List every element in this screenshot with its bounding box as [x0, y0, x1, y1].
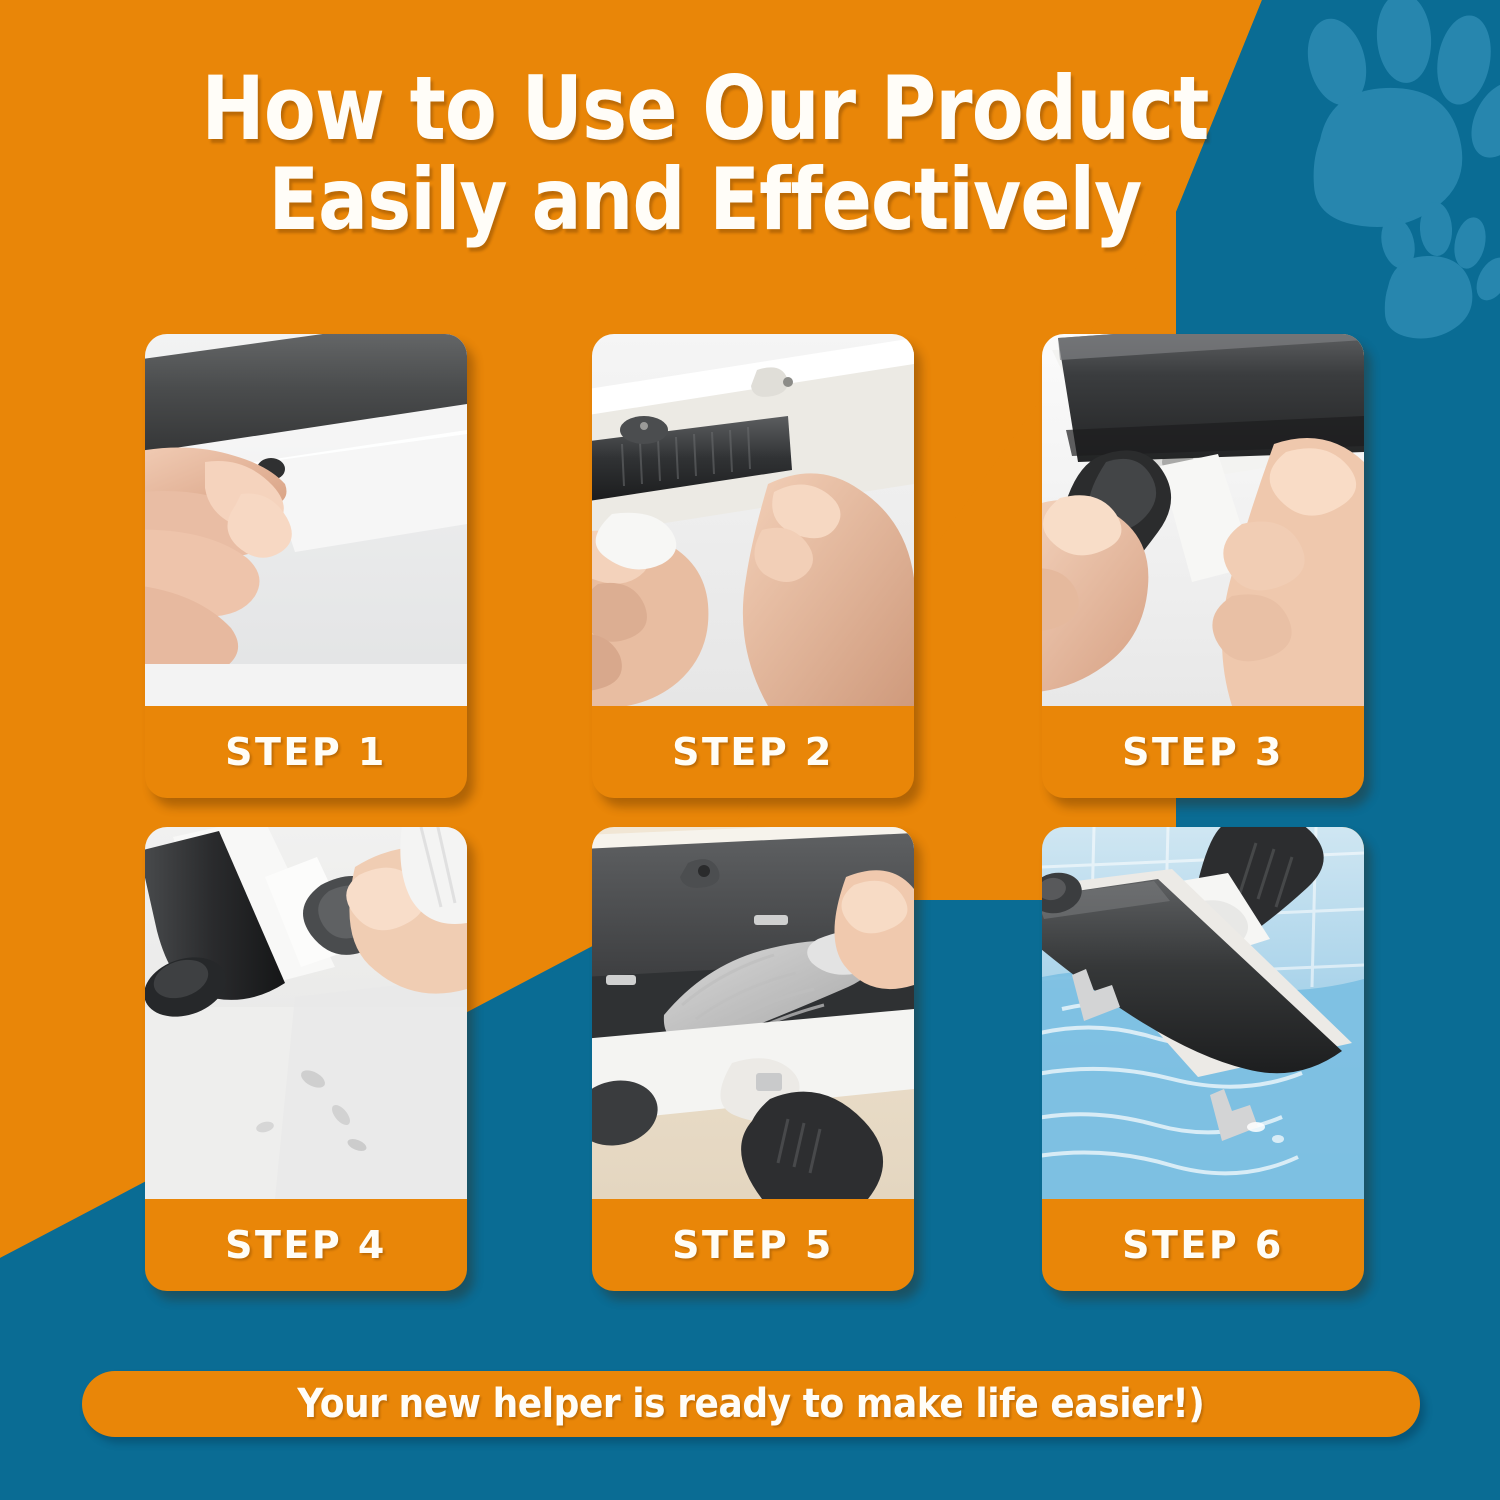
page-title: How to Use Our Product Easily and Effect… — [0, 62, 1410, 246]
step-card-1[interactable]: STEP 1 — [145, 334, 467, 798]
step-card-5[interactable]: STEP 5 — [592, 827, 914, 1291]
step-label: STEP 6 — [1042, 1199, 1364, 1291]
infographic-canvas: How to Use Our Product Easily and Effect… — [0, 0, 1500, 1500]
step-label: STEP 3 — [1042, 706, 1364, 798]
step-label: STEP 4 — [145, 1199, 467, 1291]
step-label: STEP 2 — [592, 706, 914, 798]
step-card-2[interactable]: STEP 2 — [592, 334, 914, 798]
photo-press-release-button — [145, 334, 467, 706]
step-label: STEP 5 — [592, 1199, 914, 1291]
title-line-1: How to Use Our Product — [99, 62, 1312, 155]
step-label: STEP 1 — [145, 706, 467, 798]
photo-rinse-under-water — [1042, 827, 1364, 1199]
photo-attach-handle — [592, 334, 914, 706]
footer-banner: Your new helper is ready to make life ea… — [82, 1371, 1420, 1437]
step-card-3[interactable]: STEP 3 — [1042, 334, 1364, 798]
step-card-6[interactable]: STEP 6 — [1042, 827, 1364, 1291]
photo-empty-fur-chamber — [592, 827, 914, 1199]
photo-roll-over-surface — [145, 827, 467, 1199]
title-line-2: Easily and Effectively — [99, 155, 1312, 246]
step-card-4[interactable]: STEP 4 — [145, 827, 467, 1291]
photo-hold-assembled-roller — [1042, 334, 1364, 706]
footer-banner-text: Your new helper is ready to make life ea… — [298, 1381, 1205, 1427]
